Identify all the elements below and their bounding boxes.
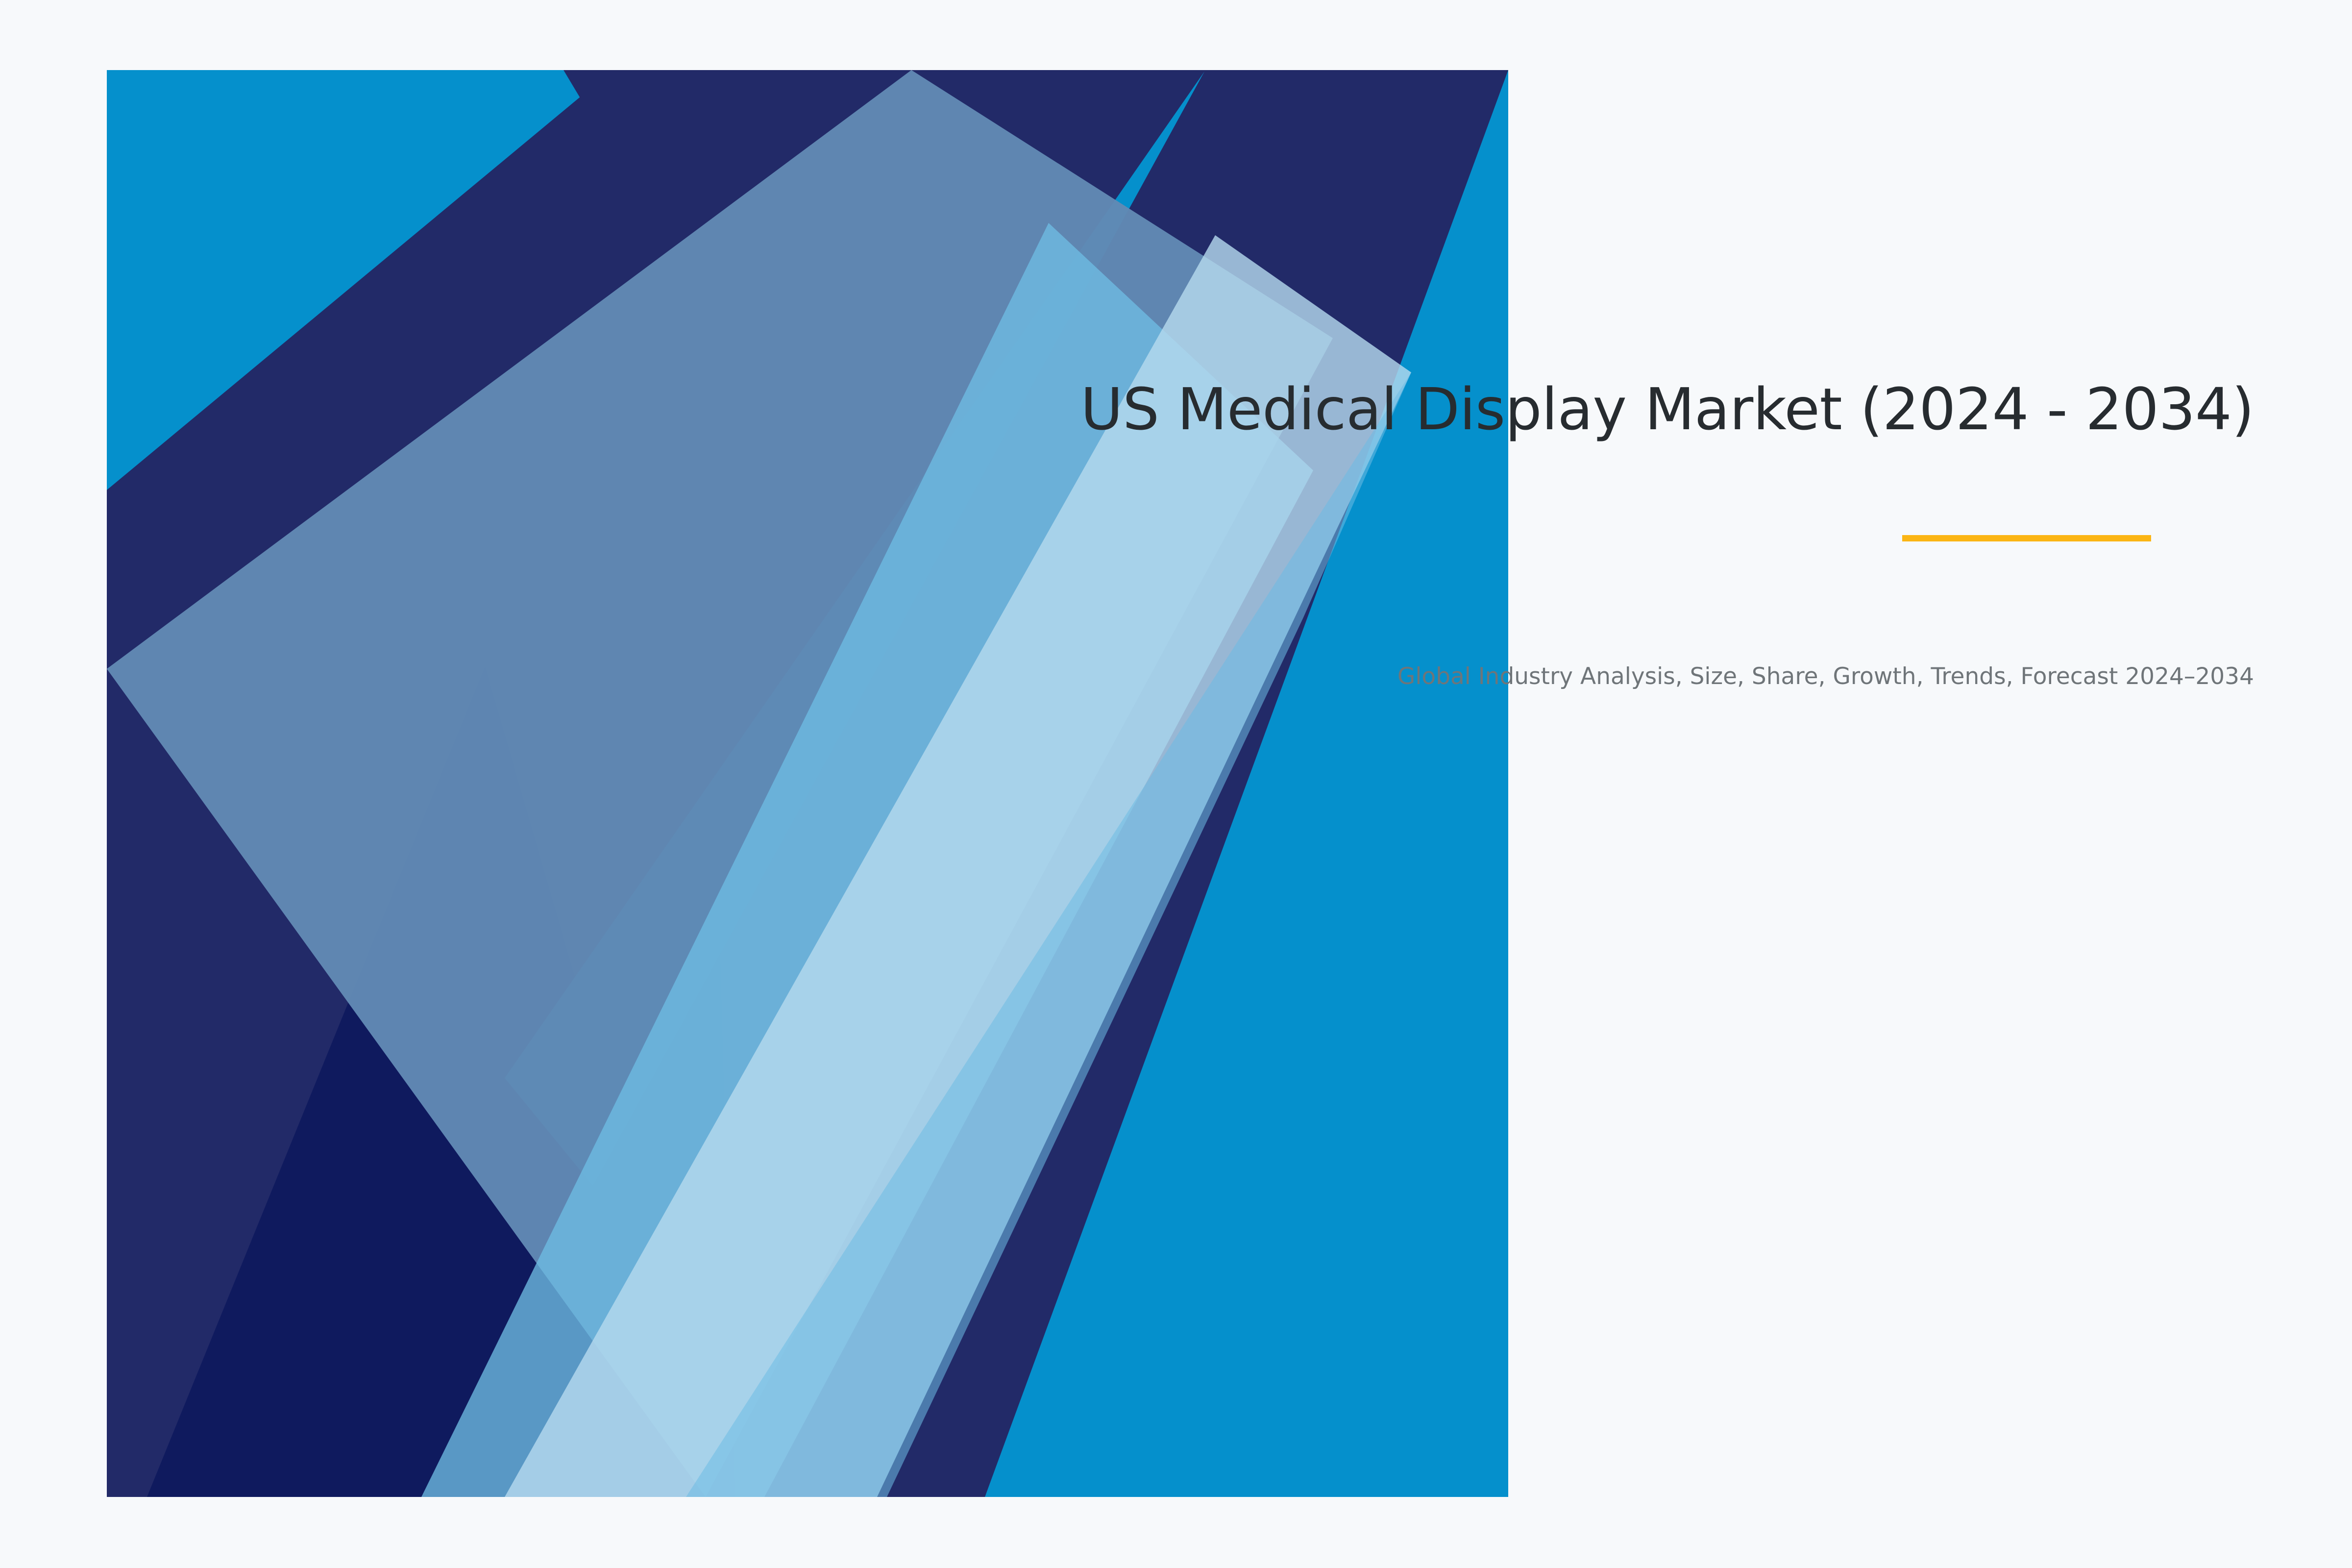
- title-block: US Medical Display Market (2024 - 2034) …: [804, 372, 2254, 446]
- page-title: US Medical Display Market (2024 - 2034): [804, 372, 2254, 446]
- page-subtitle: Global Industry Analysis, Size, Share, G…: [804, 661, 2254, 692]
- report-cover-page: US Medical Display Market (2024 - 2034) …: [0, 0, 2352, 1568]
- abstract-polygon-artwork: [0, 0, 1568, 1568]
- artwork-canvas: [0, 0, 1568, 1568]
- title-accent-underline: [1902, 535, 2151, 541]
